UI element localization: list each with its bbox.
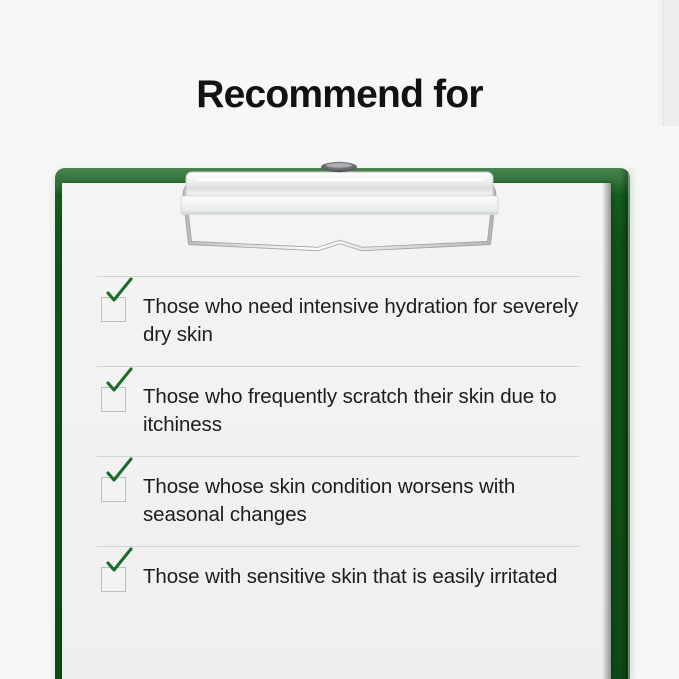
list-item[interactable]: Those whose skin condition worsens with … (97, 456, 580, 546)
checkmark-icon (97, 537, 135, 575)
checkmark-icon (97, 267, 135, 305)
page-title: Recommend for (0, 74, 679, 117)
checkmark-icon (97, 357, 135, 395)
recommend-for-panel: Recommend for (0, 0, 679, 679)
clipboard-outer-glow (628, 168, 637, 679)
list-item[interactable]: Those who frequently scratch their skin … (97, 366, 580, 456)
list-item[interactable]: Those who need intensive hydration for s… (97, 276, 580, 366)
checklist: Those who need intensive hydration for s… (97, 276, 580, 636)
list-item-label: Those who frequently scratch their skin … (143, 383, 580, 439)
list-item-label: Those with sensitive skin that is easily… (143, 563, 580, 591)
paper-right-shadow (602, 183, 611, 679)
list-item-label: Those who need intensive hydration for s… (143, 293, 580, 349)
list-item[interactable]: Those with sensitive skin that is easily… (97, 546, 580, 636)
checkmark-icon (97, 447, 135, 485)
list-item-label: Those whose skin condition worsens with … (143, 473, 580, 529)
